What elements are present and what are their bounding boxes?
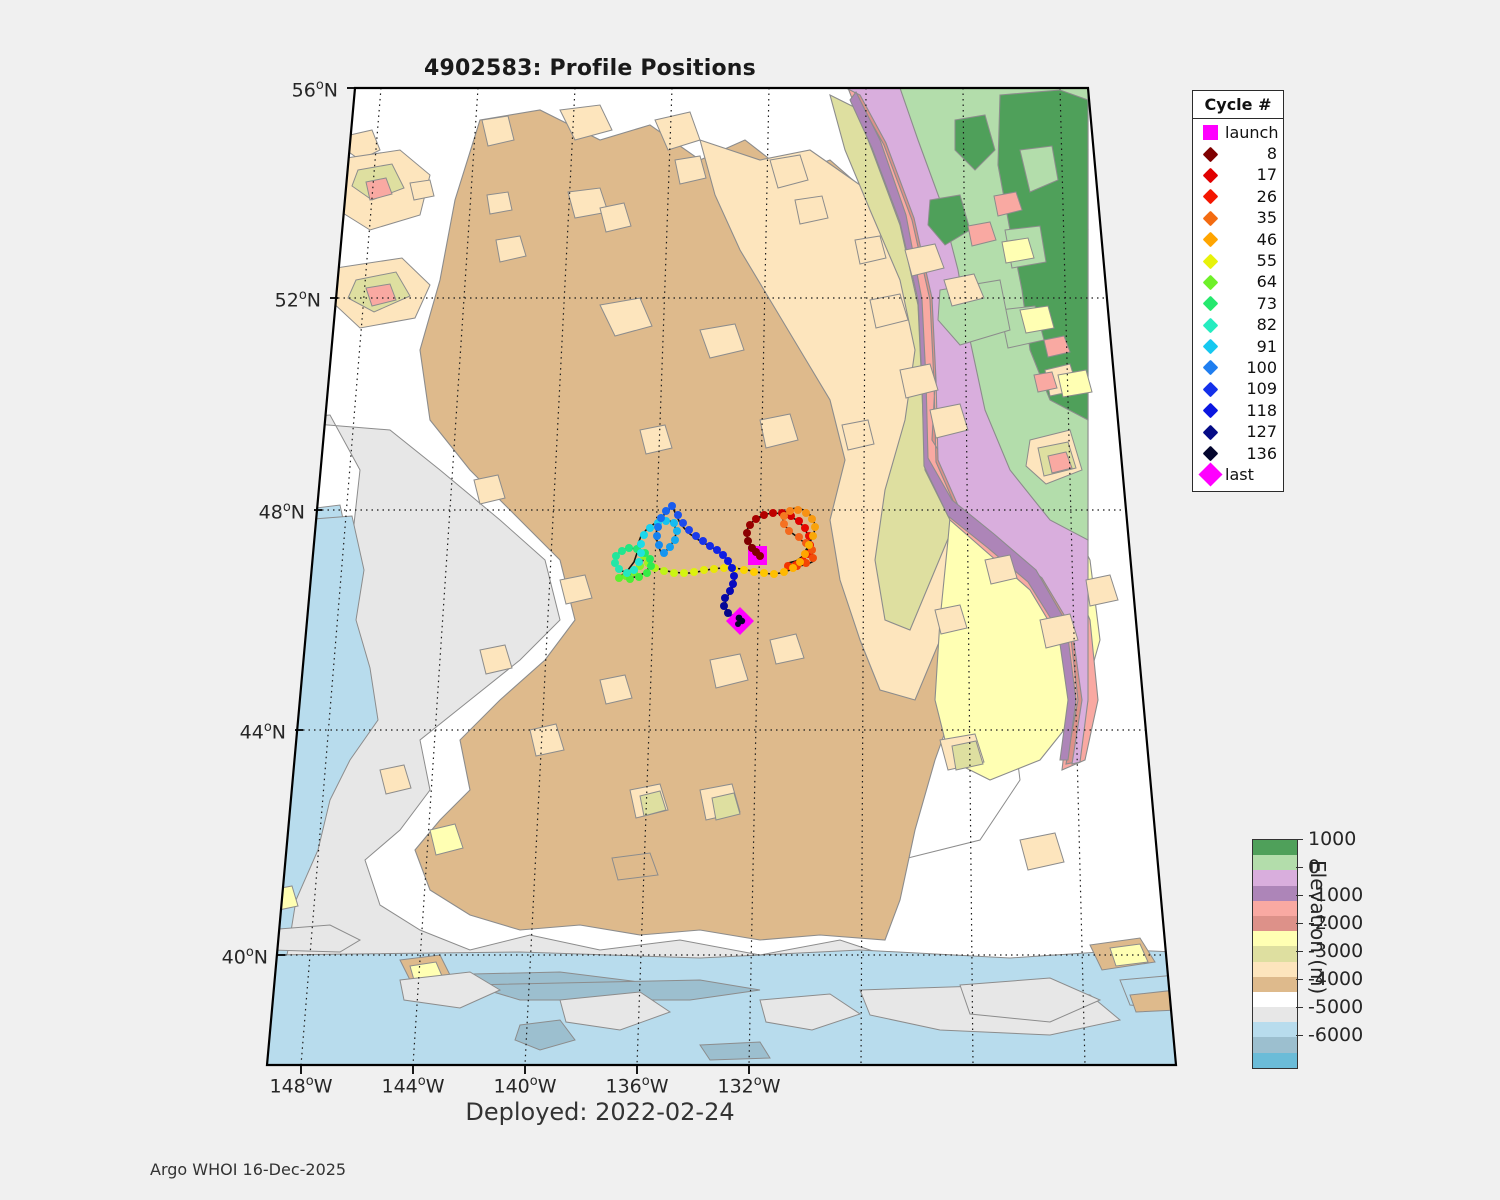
xtick-label-2: 140oW bbox=[465, 1074, 585, 1097]
colorbar-tick-label: 1000 bbox=[1308, 828, 1356, 850]
square-marker-icon bbox=[1197, 125, 1223, 140]
legend-item-8: 8 bbox=[1197, 143, 1279, 164]
colorbar-band-10 bbox=[1253, 992, 1297, 1007]
legend-item-label: launch bbox=[1223, 125, 1279, 141]
legend-item-91: 91 bbox=[1197, 336, 1279, 357]
diamond-marker-icon bbox=[1197, 427, 1223, 438]
legend-item-label: last bbox=[1223, 467, 1279, 483]
colorbar-band-14 bbox=[1253, 1053, 1297, 1068]
legend-item-label: 100 bbox=[1223, 360, 1279, 376]
diamond-marker-icon bbox=[1197, 448, 1223, 459]
colorbar-band-2 bbox=[1253, 870, 1297, 885]
legend-item-73: 73 bbox=[1197, 293, 1279, 314]
legend-item-label: 136 bbox=[1223, 446, 1279, 462]
colorbar-tickmark bbox=[1296, 923, 1303, 924]
colorbar-tickmark bbox=[1296, 979, 1303, 980]
elevation-colorbar[interactable] bbox=[1252, 839, 1298, 1069]
colorbar-band-5 bbox=[1253, 916, 1297, 931]
colorbar-tickmark bbox=[1296, 895, 1303, 896]
colorbar-band-3 bbox=[1253, 886, 1297, 901]
legend-items: launch8172635465564738291100109118127136… bbox=[1193, 119, 1283, 491]
legend-item-last: last bbox=[1197, 464, 1279, 485]
legend-item-label: 127 bbox=[1223, 424, 1279, 440]
figure-canvas: 4902583: Profile Positions bbox=[0, 0, 1500, 1200]
colorbar-band-4 bbox=[1253, 901, 1297, 916]
legend-item-label: 64 bbox=[1223, 274, 1279, 290]
diamond-marker-icon bbox=[1197, 191, 1223, 202]
diamond-marker-icon bbox=[1197, 362, 1223, 373]
diamond-marker-icon bbox=[1197, 341, 1223, 352]
ytick-label-1: 52oN bbox=[209, 288, 321, 311]
colorbar-band-6 bbox=[1253, 931, 1297, 946]
cycle-legend: Cycle # launch81726354655647382911001091… bbox=[1192, 90, 1284, 492]
colorbar-band-8 bbox=[1253, 962, 1297, 977]
colorbar-tickmark bbox=[1296, 867, 1303, 868]
float-trajectory bbox=[611, 502, 819, 635]
colorbar-band-9 bbox=[1253, 977, 1297, 992]
colorbar-band-11 bbox=[1253, 1007, 1297, 1022]
legend-item-label: 55 bbox=[1223, 253, 1279, 269]
colorbar-band-1 bbox=[1253, 855, 1297, 870]
xaxis-title: Deployed: 2022-02-24 bbox=[360, 1098, 840, 1126]
track-points bbox=[611, 502, 819, 625]
xtick-label-3: 136oW bbox=[577, 1074, 697, 1097]
colorbar-band-13 bbox=[1253, 1037, 1297, 1052]
axis-ticks bbox=[277, 88, 749, 1074]
legend-item-64: 64 bbox=[1197, 272, 1279, 293]
legend-item-55: 55 bbox=[1197, 250, 1279, 271]
diamond-marker-icon bbox=[1197, 213, 1223, 224]
legend-item-17: 17 bbox=[1197, 165, 1279, 186]
legend-item-46: 46 bbox=[1197, 229, 1279, 250]
map-frame bbox=[267, 88, 1176, 1065]
legend-item-label: 82 bbox=[1223, 317, 1279, 333]
diamond-marker-icon bbox=[1197, 170, 1223, 181]
legend-item-label: 26 bbox=[1223, 189, 1279, 205]
legend-item-label: 73 bbox=[1223, 296, 1279, 312]
ytick-label-0: 56oN bbox=[226, 78, 338, 101]
bathymetry-layer bbox=[260, 80, 1190, 1075]
colorbar-tickmark bbox=[1296, 951, 1303, 952]
legend-item-label: 91 bbox=[1223, 339, 1279, 355]
last-marker bbox=[726, 607, 754, 635]
xtick-label-4: 132oW bbox=[689, 1074, 809, 1097]
legend-item-136: 136 bbox=[1197, 443, 1279, 464]
colorbar-tickmark bbox=[1296, 1007, 1303, 1008]
legend-item-82: 82 bbox=[1197, 315, 1279, 336]
legend-item-label: 35 bbox=[1223, 210, 1279, 226]
diamond-marker-icon bbox=[1197, 384, 1223, 395]
colorbar-band-0 bbox=[1253, 840, 1297, 855]
diamond-marker-icon bbox=[1197, 298, 1223, 309]
diamond-marker-icon bbox=[1197, 149, 1223, 160]
colorbar-band-7 bbox=[1253, 946, 1297, 961]
legend-title: Cycle # bbox=[1193, 91, 1283, 119]
xtick-label-0: 148oW bbox=[241, 1074, 361, 1097]
colorbar-band-12 bbox=[1253, 1022, 1297, 1037]
legend-item-100: 100 bbox=[1197, 357, 1279, 378]
legend-item-127: 127 bbox=[1197, 421, 1279, 442]
page-title: 4902583: Profile Positions bbox=[0, 56, 1180, 81]
diamond-marker-icon bbox=[1197, 277, 1223, 288]
legend-item-35: 35 bbox=[1197, 208, 1279, 229]
legend-item-label: 118 bbox=[1223, 403, 1279, 419]
legend-item-118: 118 bbox=[1197, 400, 1279, 421]
graticule bbox=[285, 88, 1170, 1065]
legend-item-label: 46 bbox=[1223, 232, 1279, 248]
launch-marker bbox=[748, 546, 767, 565]
legend-item-label: 8 bbox=[1223, 146, 1279, 162]
colorbar-tickmark bbox=[1296, 839, 1303, 840]
diamond-marker-icon bbox=[1197, 234, 1223, 245]
colorbar-tickmark bbox=[1296, 1035, 1303, 1036]
ytick-label-4: 40oN bbox=[156, 945, 268, 968]
legend-item-109: 109 bbox=[1197, 379, 1279, 400]
diamond-marker-icon bbox=[1197, 320, 1223, 331]
diamond-marker-icon bbox=[1197, 256, 1223, 267]
footer-credit: Argo WHOI 16-Dec-2025 bbox=[150, 1160, 346, 1179]
diamond-big-marker-icon bbox=[1197, 466, 1223, 483]
legend-item-launch: launch bbox=[1197, 122, 1279, 143]
colorbar-title: Elevation (m) bbox=[1306, 860, 1330, 1080]
legend-item-26: 26 bbox=[1197, 186, 1279, 207]
diamond-marker-icon bbox=[1197, 405, 1223, 416]
legend-item-label: 109 bbox=[1223, 381, 1279, 397]
ytick-label-3: 44oN bbox=[174, 720, 286, 743]
xtick-label-1: 144oW bbox=[353, 1074, 473, 1097]
ytick-label-2: 48oN bbox=[193, 500, 305, 523]
legend-item-label: 17 bbox=[1223, 167, 1279, 183]
